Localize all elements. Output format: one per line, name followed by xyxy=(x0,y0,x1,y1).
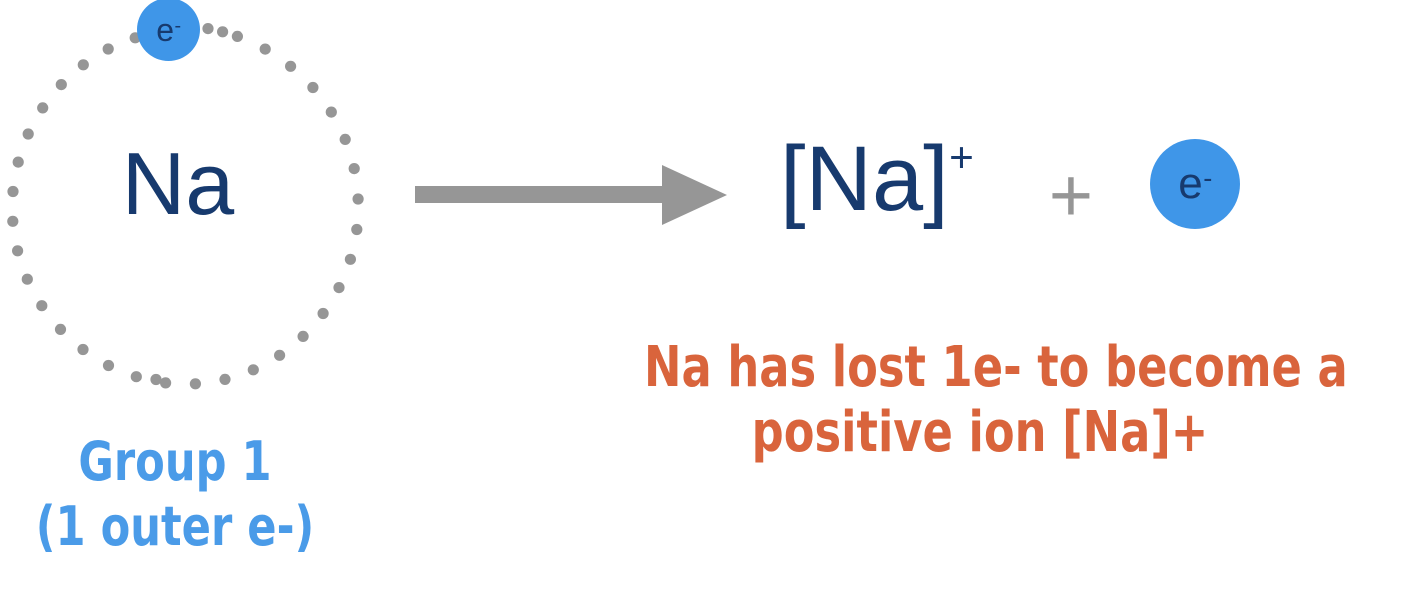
ionisation-caption: Na has lost 1e- to become a positive ion… xyxy=(644,336,1316,466)
outer-electron-bubble: e- xyxy=(137,0,200,61)
electron-letter: e xyxy=(156,12,174,48)
group-label-line-1: Group 1 xyxy=(27,430,323,495)
group-label: Group 1 (1 outer e-) xyxy=(27,430,323,560)
sodium-atom-group: Na xyxy=(0,0,400,400)
plus-operator: + xyxy=(1038,150,1104,242)
ion-charge: + xyxy=(949,134,974,181)
atom-symbol-na: Na xyxy=(0,140,356,228)
right-arrow-icon xyxy=(415,160,735,230)
diagram-canvas: Na e- [Na]+ + e- Na has lost 1e- to beco… xyxy=(0,0,1403,590)
group-label-line-2: (1 outer e-) xyxy=(27,495,323,560)
electron-letter: e xyxy=(1178,159,1202,208)
caption-line-2: positive ion [Na]+ xyxy=(644,401,1316,466)
electron-label: e- xyxy=(156,14,180,46)
free-electron-bubble: e- xyxy=(1150,139,1240,229)
electron-label: e- xyxy=(1178,162,1212,206)
caption-line-1: Na has lost 1e- to become a xyxy=(644,336,1316,401)
product-ion-formula: [Na]+ xyxy=(780,133,973,225)
electron-charge: - xyxy=(174,15,181,37)
electron-charge: - xyxy=(1203,162,1212,193)
ion-formula-text: [Na] xyxy=(780,128,949,230)
